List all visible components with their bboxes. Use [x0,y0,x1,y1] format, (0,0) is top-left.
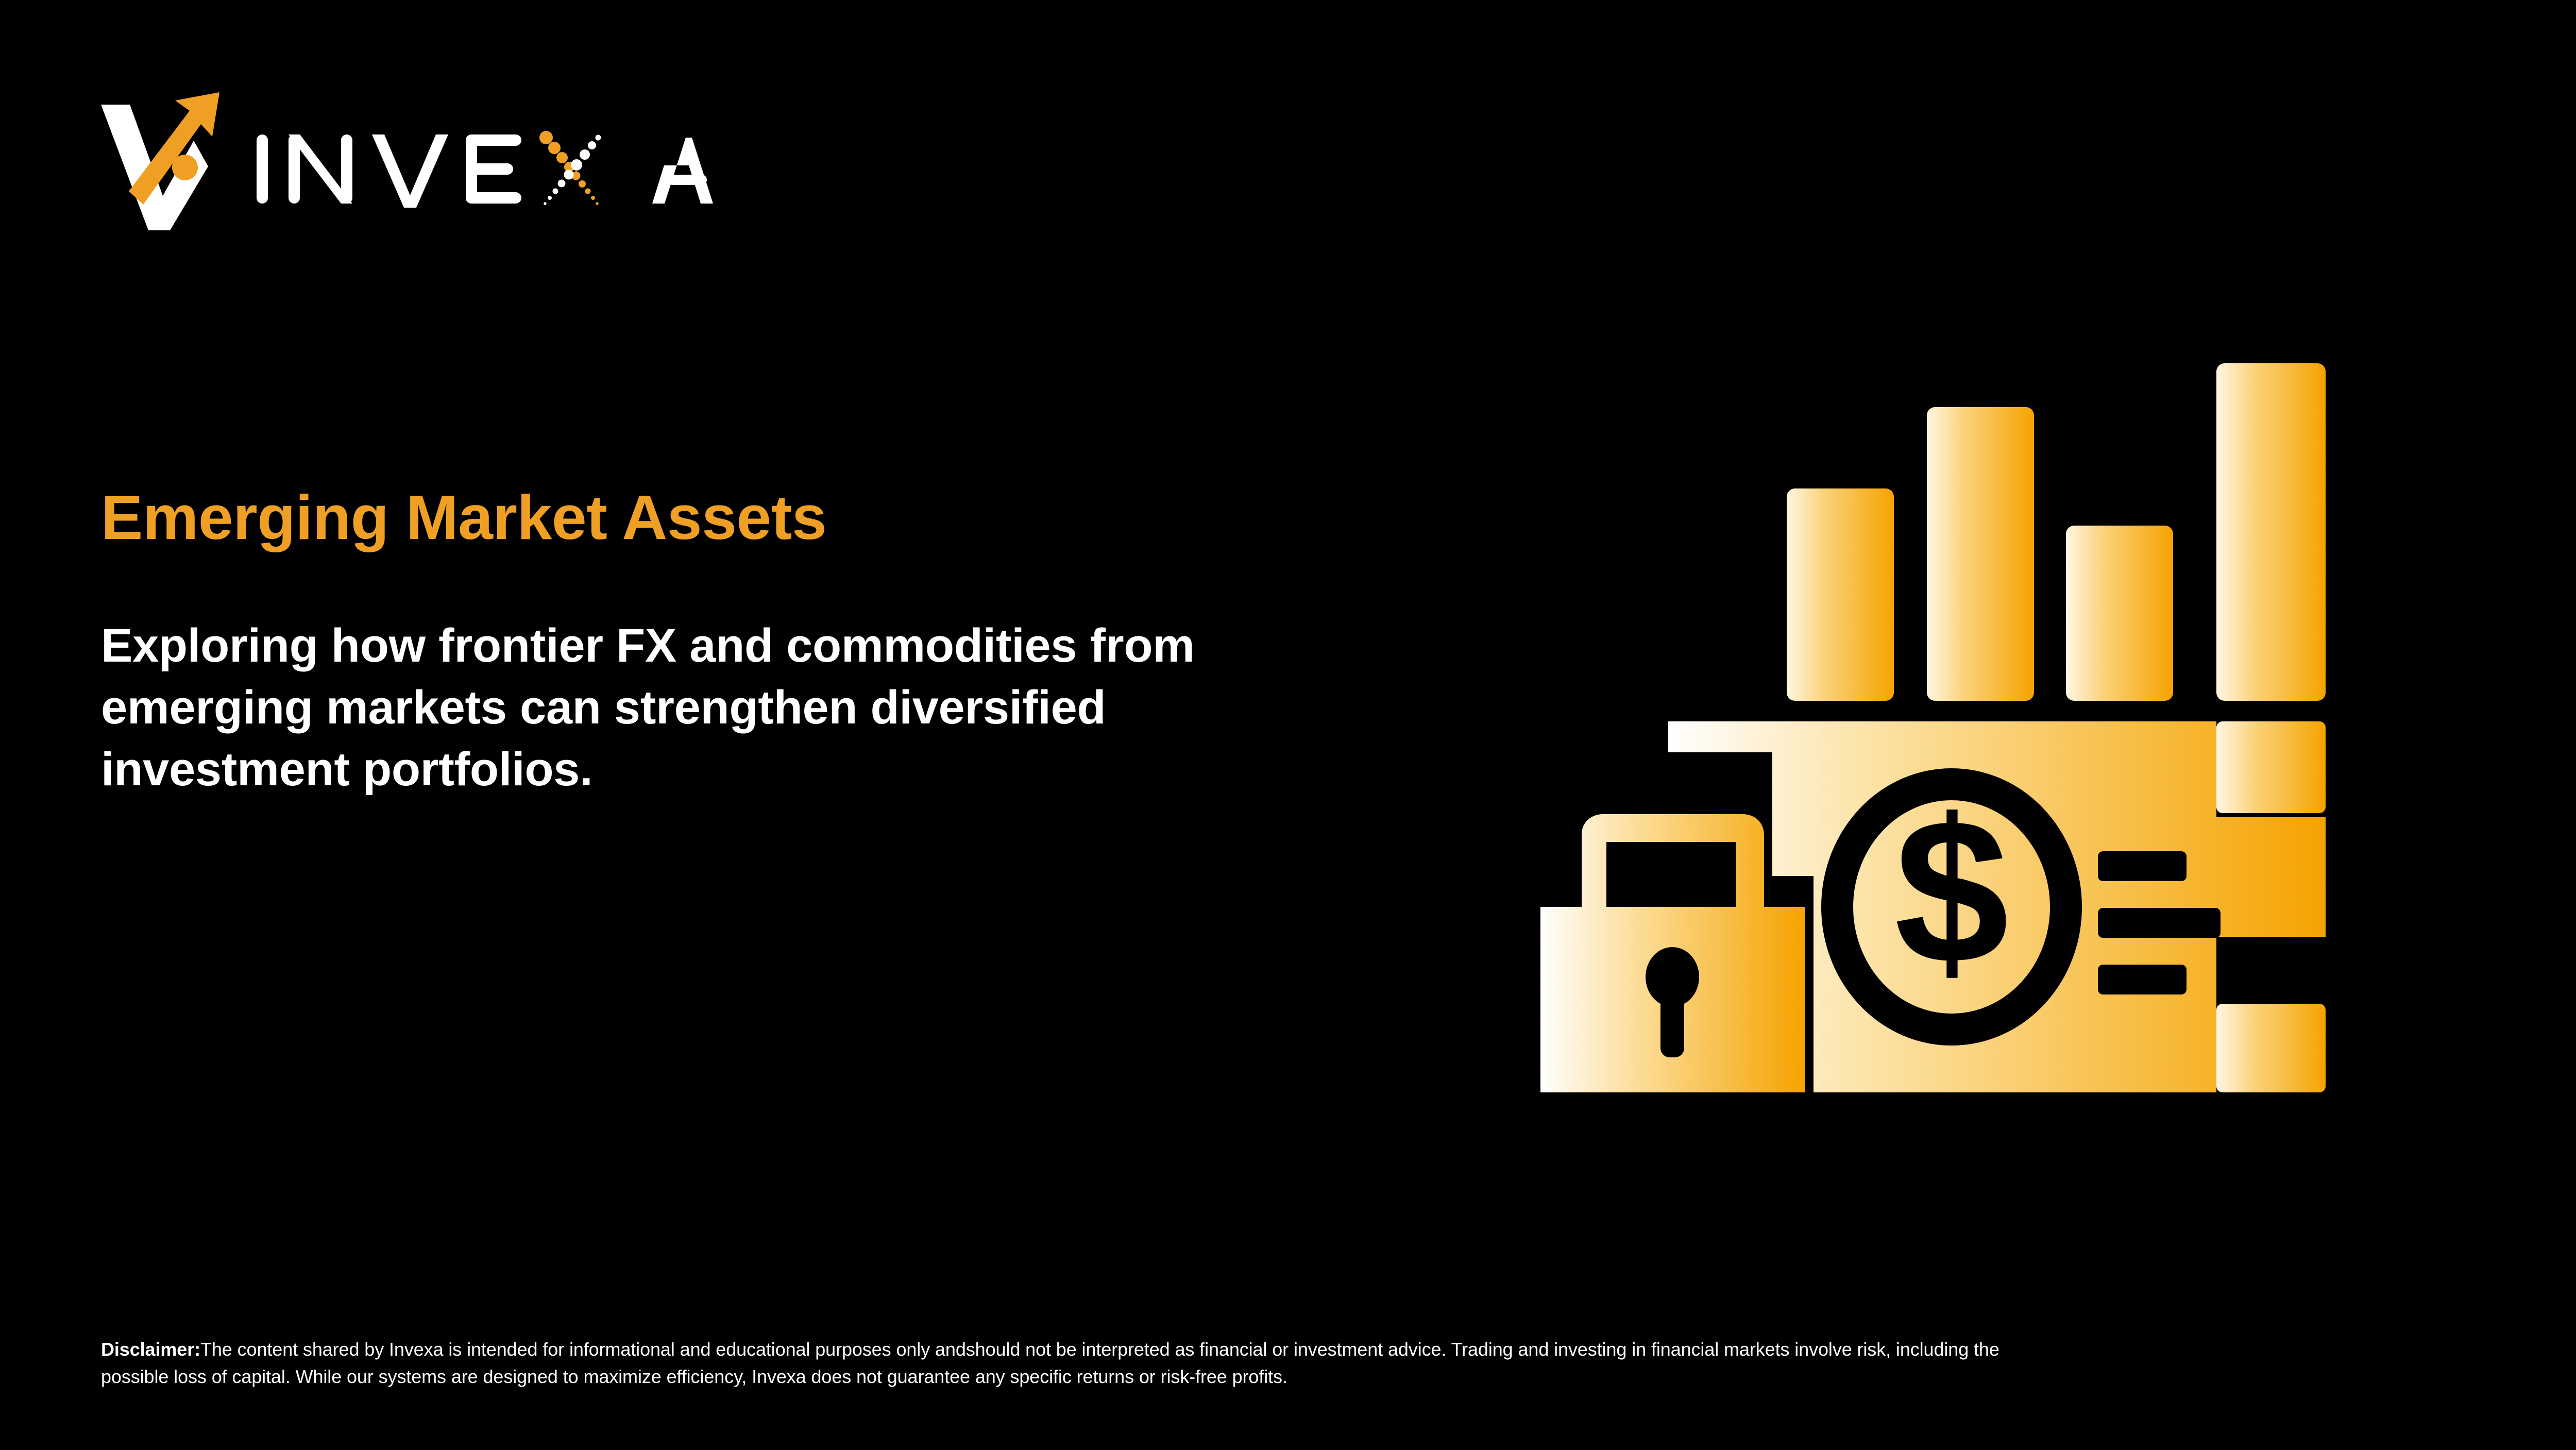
disclaimer-text: The content shared by Invexa is intended… [101,1339,1999,1387]
padlock-icon [1540,814,1805,1092]
page-title: Emerging Market Assets [101,484,1363,551]
disclaimer: Disclaimer:The content shared by Invexa … [101,1336,2018,1391]
secure-money-growth-illustration: $ [1504,361,2349,1113]
page-subtitle: Exploring how frontier FX and commoditie… [101,615,1286,800]
svg-text:$: $ [1894,776,2009,1006]
disclaimer-label: Disclaimer: [101,1339,200,1360]
bar-chart-icon [1787,363,2326,701]
brand-wordmark [252,125,716,213]
copy-block: Emerging Market Assets Exploring how fro… [101,484,1363,800]
v-arrow-growth-icon [98,90,232,232]
brand-logo[interactable] [98,90,716,234]
